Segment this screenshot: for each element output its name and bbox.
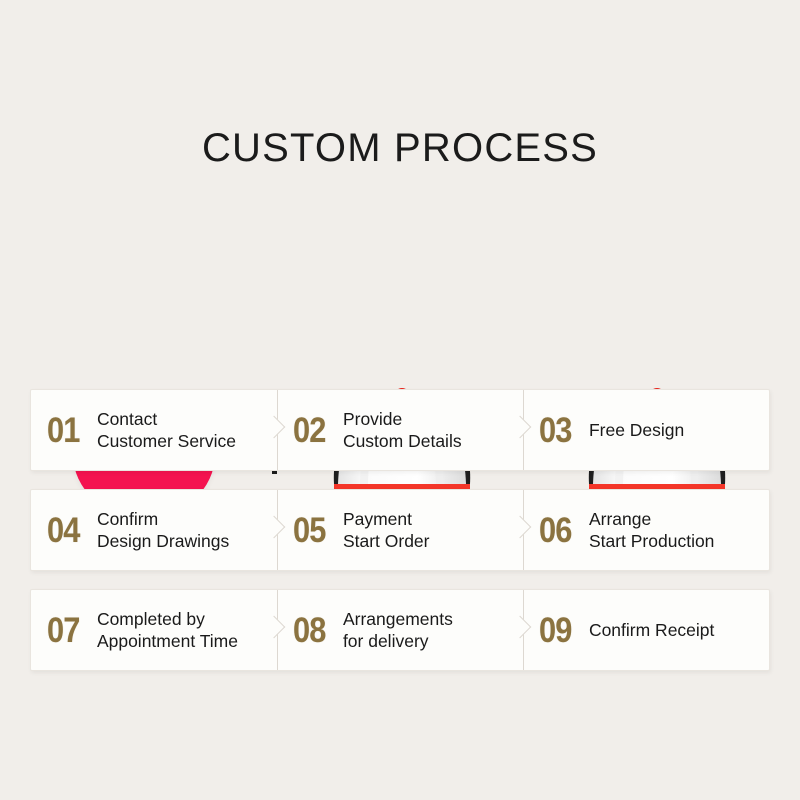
step-number: 07 bbox=[47, 613, 80, 648]
step-number: 02 bbox=[293, 413, 326, 448]
process-step-07[interactable]: 07 Completed by Appointment Time bbox=[31, 590, 277, 670]
process-step-01[interactable]: 01 Contact Customer Service bbox=[31, 390, 277, 470]
process-row: 04 Confirm Design Drawings 05 Payment St… bbox=[30, 489, 770, 571]
step-label: Confirm Receipt bbox=[589, 619, 769, 641]
step-number: 08 bbox=[293, 613, 326, 648]
step-label: Confirm Design Drawings bbox=[97, 508, 277, 553]
step-label: Arrangements for delivery bbox=[343, 608, 523, 653]
process-row: 01 Contact Customer Service 02 Provide C… bbox=[30, 389, 770, 471]
process-row: 07 Completed by Appointment Time 08 Arra… bbox=[30, 589, 770, 671]
step-number: 09 bbox=[539, 613, 572, 648]
step-number: 05 bbox=[293, 513, 326, 548]
step-label: Arrange Start Production bbox=[589, 508, 769, 553]
process-step-02[interactable]: 02 Provide Custom Details bbox=[277, 390, 523, 470]
step-label: Provide Custom Details bbox=[343, 408, 523, 453]
step-label: Payment Start Order bbox=[343, 508, 523, 553]
hero-illustration: LOGO bbox=[0, 190, 800, 365]
step-number: 03 bbox=[539, 413, 572, 448]
process-step-05[interactable]: 05 Payment Start Order bbox=[277, 490, 523, 570]
step-label: Free Design bbox=[589, 419, 769, 441]
page-title: CUSTOM PROCESS bbox=[0, 126, 800, 171]
step-label: Contact Customer Service bbox=[97, 408, 277, 453]
step-label: Completed by Appointment Time bbox=[97, 608, 277, 653]
process-steps: 01 Contact Customer Service 02 Provide C… bbox=[30, 389, 770, 689]
process-step-09[interactable]: 09 Confirm Receipt bbox=[523, 590, 769, 670]
process-step-06[interactable]: 06 Arrange Start Production bbox=[523, 490, 769, 570]
step-number: 06 bbox=[539, 513, 572, 548]
step-number: 01 bbox=[47, 413, 80, 448]
process-step-04[interactable]: 04 Confirm Design Drawings bbox=[31, 490, 277, 570]
process-step-08[interactable]: 08 Arrangements for delivery bbox=[277, 590, 523, 670]
process-step-03[interactable]: 03 Free Design bbox=[523, 390, 769, 470]
step-number: 04 bbox=[47, 513, 80, 548]
